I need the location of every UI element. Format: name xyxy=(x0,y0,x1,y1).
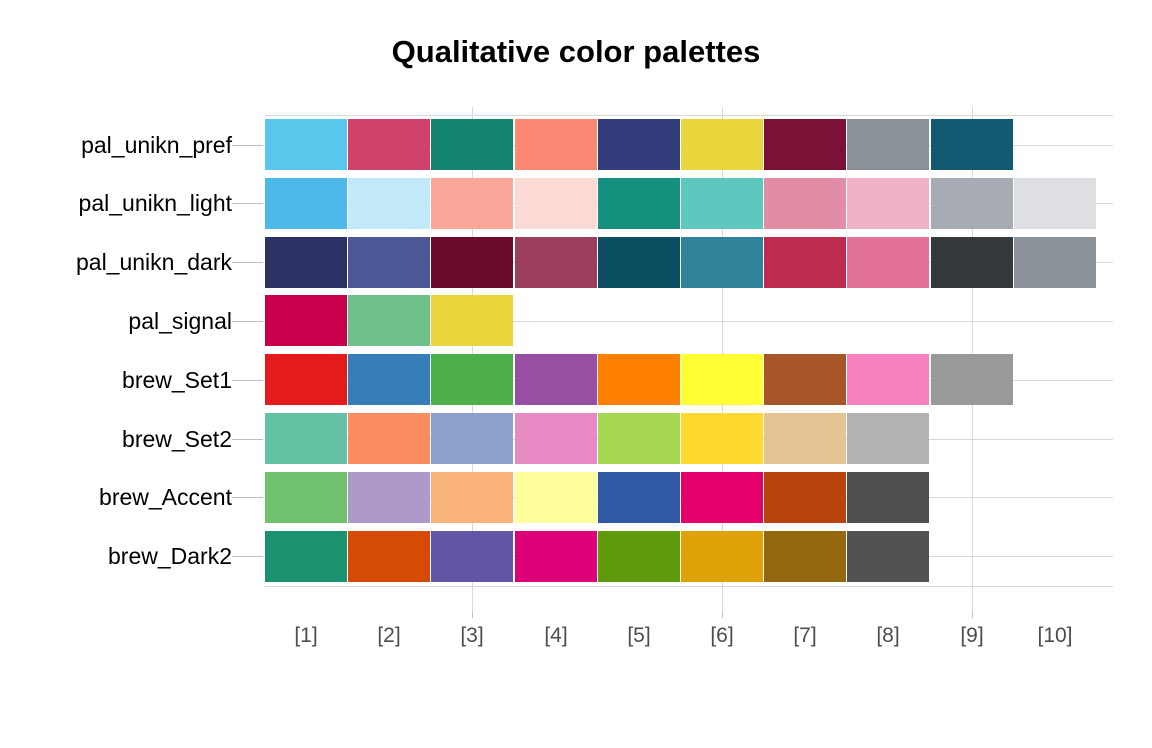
color-swatch xyxy=(598,237,680,288)
color-swatch xyxy=(348,178,430,229)
palette-row xyxy=(265,178,1113,229)
color-swatch xyxy=(431,119,513,170)
color-swatch xyxy=(764,354,846,405)
color-swatch xyxy=(847,531,929,582)
color-swatch xyxy=(348,295,430,346)
color-swatch xyxy=(265,531,347,582)
color-swatch xyxy=(515,354,597,405)
color-swatch xyxy=(1014,237,1096,288)
color-swatch xyxy=(348,413,430,464)
color-swatch xyxy=(764,237,846,288)
color-swatch xyxy=(348,237,430,288)
color-swatch xyxy=(847,413,929,464)
color-swatch xyxy=(764,531,846,582)
palette-row xyxy=(265,413,1113,464)
gridline-horizontal-boundary xyxy=(265,115,1113,116)
color-swatch xyxy=(515,237,597,288)
color-swatch xyxy=(598,354,680,405)
color-swatch xyxy=(681,178,763,229)
color-swatch xyxy=(847,119,929,170)
gridline-horizontal-boundary xyxy=(265,586,1113,587)
color-swatch xyxy=(681,119,763,170)
y-axis-tick-label: brew_Dark2 xyxy=(17,544,232,568)
x-axis-tick-label: [6] xyxy=(681,624,763,648)
x-axis-tick-label: [3] xyxy=(431,624,513,648)
color-swatch xyxy=(431,237,513,288)
y-axis-tick-mark xyxy=(232,203,263,204)
color-swatch xyxy=(265,119,347,170)
y-axis-tick-mark xyxy=(232,262,263,263)
color-swatch xyxy=(764,119,846,170)
y-axis-tick-label: pal_signal xyxy=(17,309,232,333)
color-swatch xyxy=(681,413,763,464)
y-axis-tick-mark xyxy=(232,145,263,146)
color-swatch xyxy=(681,237,763,288)
color-swatch xyxy=(931,178,1013,229)
color-swatch xyxy=(931,237,1013,288)
palette-row xyxy=(265,295,1113,346)
color-swatch xyxy=(598,119,680,170)
x-axis-tick-label: [8] xyxy=(847,624,929,648)
x-axis-tick-label: [4] xyxy=(515,624,597,648)
color-swatch xyxy=(764,178,846,229)
chart-root: Qualitative color palettes pal_unikn_pre… xyxy=(0,0,1152,748)
y-axis-tick-label: pal_unikn_pref xyxy=(17,133,232,157)
palette-row xyxy=(265,472,1113,523)
color-swatch xyxy=(265,295,347,346)
color-swatch xyxy=(515,413,597,464)
x-axis-ticks xyxy=(265,612,1113,619)
y-axis-tick-label: brew_Set2 xyxy=(17,427,232,451)
x-axis-tick-mark xyxy=(972,612,973,618)
palette-row xyxy=(265,237,1113,288)
y-axis-tick-label: brew_Set1 xyxy=(17,368,232,392)
color-swatch xyxy=(431,295,513,346)
palette-row xyxy=(265,354,1113,405)
y-axis-tick-mark xyxy=(232,321,263,322)
color-swatch xyxy=(598,531,680,582)
page-title: Qualitative color palettes xyxy=(0,34,1152,70)
x-axis-tick-mark xyxy=(722,612,723,618)
color-swatch xyxy=(598,472,680,523)
x-axis-labels: [1][2][3][4][5][6][7][8][9][10] xyxy=(265,624,1113,664)
color-swatch xyxy=(931,119,1013,170)
plot-panel xyxy=(265,107,1113,612)
color-swatch xyxy=(265,354,347,405)
x-axis-tick-label: [9] xyxy=(931,624,1013,648)
color-swatch xyxy=(681,354,763,405)
y-axis-tick-mark xyxy=(232,556,263,557)
color-swatch xyxy=(1014,178,1096,229)
color-swatch xyxy=(515,531,597,582)
color-swatch xyxy=(681,472,763,523)
y-axis-tick-mark xyxy=(232,497,263,498)
x-axis-tick-label: [1] xyxy=(265,624,347,648)
color-swatch xyxy=(265,178,347,229)
color-swatch xyxy=(847,178,929,229)
y-axis-tick-label: pal_unikn_dark xyxy=(17,250,232,274)
y-axis-tick-mark xyxy=(232,380,263,381)
color-swatch xyxy=(431,178,513,229)
color-swatch xyxy=(847,237,929,288)
color-swatch xyxy=(598,178,680,229)
color-swatch xyxy=(431,354,513,405)
color-swatch xyxy=(515,178,597,229)
y-axis-tick-label: brew_Accent xyxy=(17,485,232,509)
y-axis-labels: pal_unikn_prefpal_unikn_lightpal_unikn_d… xyxy=(14,107,232,612)
x-axis-tick-label: [7] xyxy=(764,624,846,648)
color-swatch xyxy=(764,472,846,523)
color-swatch xyxy=(265,413,347,464)
color-swatch xyxy=(764,413,846,464)
color-swatch xyxy=(847,472,929,523)
x-axis-tick-label: [2] xyxy=(348,624,430,648)
color-swatch xyxy=(265,472,347,523)
color-swatch xyxy=(847,354,929,405)
x-axis-tick-label: [5] xyxy=(598,624,680,648)
color-swatch xyxy=(348,531,430,582)
color-swatch xyxy=(681,531,763,582)
x-axis-tick-label: [10] xyxy=(1014,624,1096,648)
x-axis-tick-mark xyxy=(472,612,473,618)
y-axis-tick-label: pal_unikn_light xyxy=(17,191,232,215)
color-swatch xyxy=(931,354,1013,405)
color-swatch xyxy=(598,413,680,464)
y-axis-tick-mark xyxy=(232,439,263,440)
color-swatch xyxy=(515,119,597,170)
color-swatch xyxy=(348,354,430,405)
color-swatch xyxy=(431,472,513,523)
palette-row xyxy=(265,119,1113,170)
color-swatch xyxy=(348,472,430,523)
color-swatch xyxy=(515,472,597,523)
color-swatch xyxy=(431,413,513,464)
color-swatch xyxy=(348,119,430,170)
y-axis-ticks xyxy=(232,107,265,612)
color-swatch xyxy=(265,237,347,288)
color-swatch xyxy=(431,531,513,582)
palette-row xyxy=(265,531,1113,582)
